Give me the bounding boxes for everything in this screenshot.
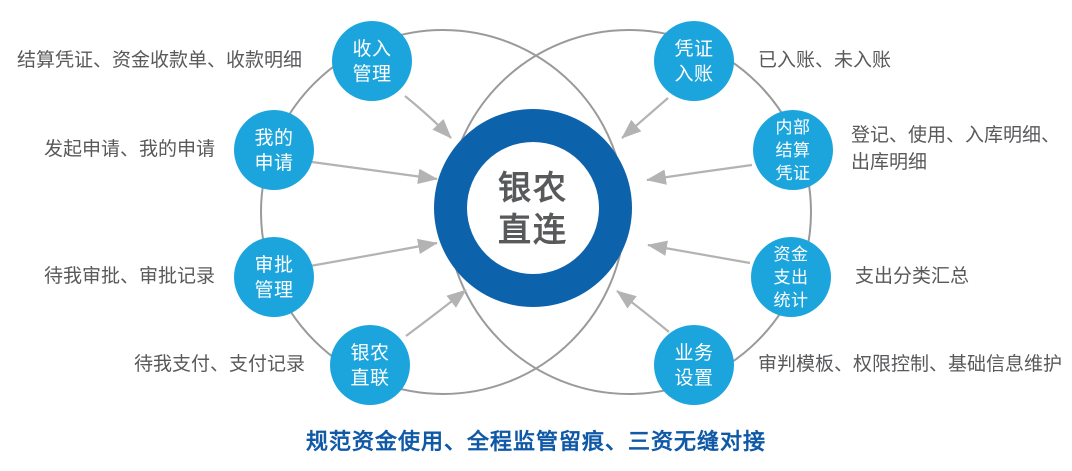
node-circle[interactable]: [654, 21, 734, 101]
description-approval-management: 待我审批、审批记录: [0, 263, 215, 290]
node-label-line: 直联: [350, 367, 389, 389]
node-label-line: 管理: [352, 63, 391, 85]
node-label-line: 支出: [774, 268, 809, 287]
node-circle[interactable]: [330, 325, 410, 405]
node-circle[interactable]: [654, 325, 734, 405]
node-circle[interactable]: [332, 21, 412, 101]
center-ring-inner: [467, 142, 599, 274]
arrow-approval-management: [310, 243, 437, 266]
node-label-line: 银农: [350, 342, 389, 364]
node-approval-management[interactable]: 审批 管理: [234, 237, 314, 317]
node-label-line: 资金: [774, 245, 809, 264]
description-internal-settlement-voucher: 登记、使用、入库明细、 出库明细: [851, 122, 1066, 176]
arrow-internal-settlement-voucher: [647, 165, 752, 180]
arrow-income-management: [405, 96, 451, 138]
center-label-line2: 直连: [498, 211, 568, 248]
node-circle[interactable]: [234, 110, 314, 190]
center-ring: 银农 直连: [434, 109, 632, 307]
description-bank-direct-link: 待我支付、支付记录: [0, 351, 305, 378]
arrow-business-settings: [617, 291, 669, 332]
diagram-caption: 规范资金使用、全程监管留痕、三资无缝对接: [0, 424, 1072, 456]
node-label-line: 凭证: [776, 164, 811, 183]
diagram-canvas: 银农 直连 收入 管理 我的 申请 审批 管理 银农 直联 凭证 入账: [0, 0, 1072, 471]
node-fund-expenditure-statistics[interactable]: 资金 支出 统计: [751, 237, 831, 317]
arrow-voucher-booking: [622, 98, 668, 138]
node-label-line: 设置: [674, 367, 713, 389]
node-label-line: 审批: [254, 254, 293, 276]
node-circle[interactable]: [234, 237, 314, 317]
node-business-settings[interactable]: 业务 设置: [654, 325, 734, 405]
arrow-fund-expenditure-statistics: [648, 245, 750, 263]
description-voucher-booking: 已入账、未入账: [758, 47, 1058, 74]
node-label-line: 统计: [774, 291, 809, 310]
node-bank-direct-link[interactable]: 银农 直联: [330, 325, 410, 405]
arrow-bank-direct-link: [406, 290, 466, 336]
node-label-line: 入账: [674, 63, 713, 85]
description-my-application: 发起申请、我的申请: [0, 136, 215, 163]
node-label-line: 业务: [674, 342, 713, 364]
description-business-settings: 审判模板、权限控制、基础信息维护: [758, 351, 1072, 378]
arrow-my-application: [312, 162, 437, 179]
description-fund-expenditure-statistics: 支出分类汇总: [855, 263, 1070, 290]
node-income-management[interactable]: 收入 管理: [332, 21, 412, 101]
node-label-line: 收入: [352, 38, 391, 60]
node-label-line: 内部: [776, 118, 811, 137]
node-label-line: 结算: [776, 141, 811, 160]
node-voucher-booking[interactable]: 凭证 入账: [654, 21, 734, 101]
node-label-line: 申请: [254, 152, 293, 174]
node-internal-settlement-voucher[interactable]: 内部 结算 凭证: [753, 110, 833, 190]
node-label-line: 管理: [254, 279, 293, 301]
node-my-application[interactable]: 我的 申请: [234, 110, 314, 190]
center-label-line1: 银农: [498, 169, 568, 206]
node-label-line: 我的: [254, 127, 293, 149]
description-income-management: 结算凭证、资金收款单、收款明细: [0, 47, 302, 74]
node-label-line: 凭证: [674, 38, 713, 60]
